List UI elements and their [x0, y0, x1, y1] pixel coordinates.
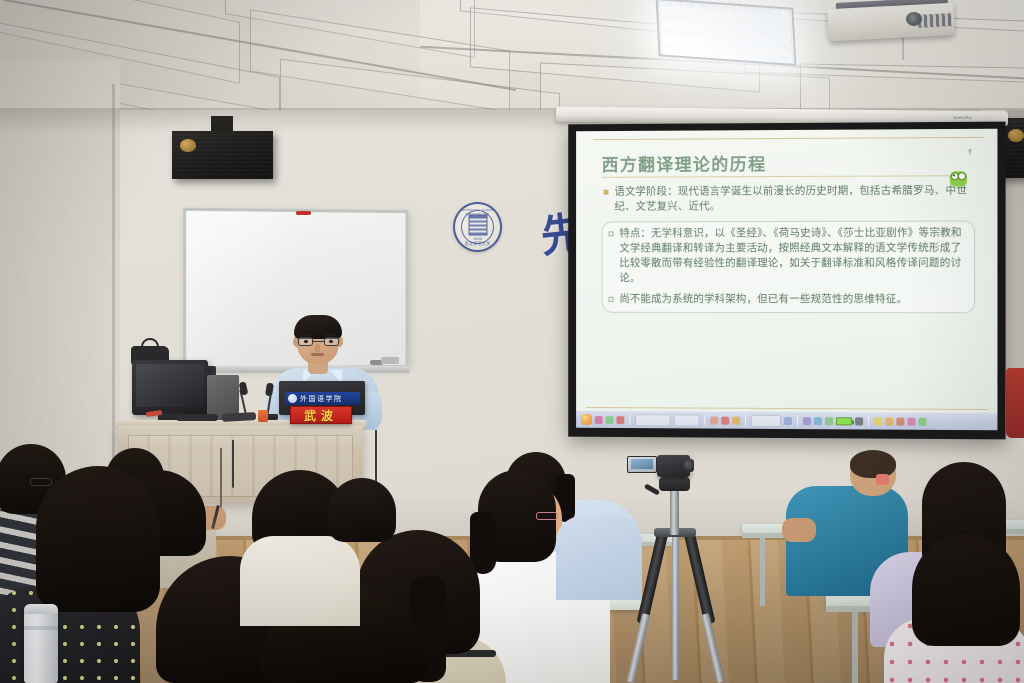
battery-indicator-icon[interactable] [836, 417, 852, 425]
desktop-monitor[interactable] [132, 360, 208, 415]
taskbar-window-button[interactable] [635, 414, 671, 426]
wall-speaker-left [172, 131, 273, 179]
eyeglasses [536, 512, 558, 520]
shirt-collar-tag [876, 474, 889, 485]
banner-seal-icon [288, 394, 297, 403]
slide-bottom-rule [586, 407, 987, 410]
seal-text-bottom: 西北师范大学 [455, 241, 500, 247]
bottle-band [24, 626, 58, 630]
taskbar-icon[interactable] [814, 417, 822, 425]
camcorder-lens [684, 459, 694, 472]
laptop-banner: 外国语学院 [285, 392, 360, 405]
nameplate: 武波 [290, 406, 352, 424]
classroom-scene: NORTHWEST NORMAL UNIVERSITY 1902 西北师范大学 … [0, 0, 1024, 683]
taskbar-icon[interactable] [825, 417, 833, 425]
taskbar-separator [629, 414, 630, 425]
taskbar-tray-icon[interactable] [919, 417, 927, 425]
presenter-nose [315, 344, 320, 352]
taskbar-icon[interactable] [606, 416, 614, 424]
slide-top-rule [594, 137, 983, 140]
pull-down-projection-screen[interactable]: 西方翻译理论的历程 语文学阶段：现代语言学诞生以前漫长的历史时期，包括古希腊罗马… [568, 122, 1005, 440]
presenter-eye [329, 340, 333, 343]
taskbar-icon[interactable] [784, 416, 792, 424]
taskbar-icon[interactable] [732, 416, 740, 424]
taskbar-icon[interactable] [710, 416, 718, 424]
bottle-cap[interactable] [24, 604, 58, 614]
audience-body [240, 536, 360, 626]
audience-hair [912, 534, 1020, 646]
screen-brand-label: ScreenPro [953, 115, 972, 120]
slide-note-box: 特点：无学科意识，以《圣经》、《荷马史诗》、《莎士比亚剧作》等宗教和文学经典翻译… [602, 220, 975, 313]
slide-bullet-item: 语文学阶段：现代语言学诞生以前漫长的历史时期，包括古希腊罗马、中世纪、文艺复兴、… [602, 183, 975, 214]
presenter-eyebrow [324, 334, 336, 336]
taskbar-tray-icon[interactable] [907, 417, 915, 425]
taskbar-separator [797, 415, 798, 426]
taskbar-tray-icon[interactable] [896, 417, 904, 425]
taskbar-separator [745, 415, 746, 426]
taskbar-icon[interactable] [616, 416, 624, 424]
projector-ports [918, 13, 953, 28]
taskbar-icon[interactable] [595, 415, 603, 423]
camcorder-lcd-screen[interactable] [627, 456, 657, 473]
slide-note-item: 特点：无学科意识，以《圣经》、《荷马史诗》、《莎士比亚剧作》等宗教和文学经典翻译… [607, 225, 968, 285]
audience-hair [36, 466, 160, 612]
audience-body [556, 516, 642, 600]
slide-note-item: 尚不能成为系统的学科架构，但已有一些规范性的思维特征。 [607, 292, 968, 307]
university-seal: NORTHWEST NORMAL UNIVERSITY 1902 西北师范大学 [453, 202, 502, 252]
tripod-head[interactable] [659, 477, 690, 491]
frog-sticker-icon [950, 171, 967, 186]
seal-emblem-mark [468, 215, 487, 236]
taskbar-icon[interactable] [721, 416, 729, 424]
start-orb-icon[interactable] [581, 414, 592, 425]
windows-taskbar[interactable] [576, 411, 997, 430]
cable [232, 440, 234, 488]
taskbar-separator [868, 415, 869, 426]
bullet-square-icon [604, 190, 609, 195]
fluorescent-panel-light [656, 0, 797, 66]
bullet-hollow-square-icon [609, 231, 614, 236]
red-marker[interactable] [296, 211, 311, 215]
presenter-eyebrow [300, 334, 312, 336]
tripod-leg [672, 530, 679, 680]
whiteboard-eraser[interactable] [381, 357, 399, 364]
water-bottle[interactable] [24, 608, 58, 683]
slide-bullet-text: 语文学阶段：现代语言学诞生以前漫长的历史时期，包括古希腊罗马、中世纪、文艺复兴、… [614, 183, 975, 214]
nameplate-text: 武波 [304, 407, 338, 424]
desk-leg [760, 538, 765, 606]
slide-title-underline [602, 175, 960, 177]
bullet-hollow-square-icon [609, 297, 614, 302]
taskbar-window-button[interactable] [674, 414, 700, 426]
slide-note-text: 特点：无学科意识，以《圣经》、《荷马史诗》、《莎士比亚剧作》等宗教和文学经典翻译… [619, 225, 968, 285]
red-banner-cloth [1006, 368, 1024, 438]
eyeglasses [30, 478, 52, 486]
orange-object[interactable] [258, 410, 268, 422]
audience-arm [782, 518, 816, 542]
presentation-slide: 西方翻译理论的历程 语文学阶段：现代语言学诞生以前漫长的历史时期，包括古希腊罗马… [576, 129, 997, 413]
volume-icon[interactable] [855, 417, 863, 425]
taskbar-tray-icon[interactable] [885, 417, 893, 425]
tripod-center-column [670, 487, 679, 535]
taskbar-separator [704, 415, 705, 426]
cable-on-wall [220, 448, 222, 508]
desk-leg [852, 611, 858, 683]
taskbar-tray-icon[interactable] [874, 417, 882, 425]
audience-hair [850, 450, 896, 478]
projected-image-surface: 西方翻译理论的历程 语文学阶段：现代语言学诞生以前漫长的历史时期，包括古希腊罗马… [576, 129, 997, 431]
remote-control[interactable] [176, 414, 218, 421]
presenter-eye [304, 340, 308, 343]
audience-hair [328, 478, 396, 542]
laptop-banner-text: 外国语学院 [300, 394, 343, 404]
taskbar-window-button[interactable] [751, 414, 781, 426]
slide-note-text: 尚不能成为系统的学科架构，但已有一些规范性的思维特征。 [619, 292, 907, 307]
presenter-mouth [311, 353, 324, 356]
taskbar-icon[interactable] [803, 417, 811, 425]
slide-title: 西方翻译理论的历程 [602, 149, 975, 176]
